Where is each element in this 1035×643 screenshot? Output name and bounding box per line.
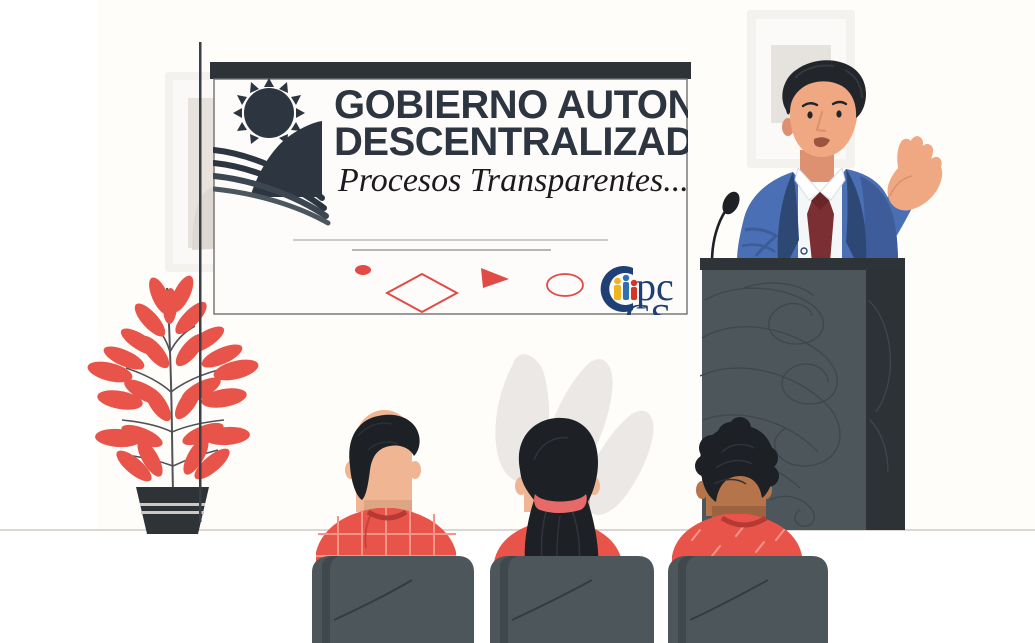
- screen-rod: [199, 42, 202, 522]
- small-dot-shape: [355, 265, 371, 275]
- podium-top: [700, 258, 905, 270]
- slide-title-line-2: DESCENTRALIZADO: [334, 120, 724, 164]
- right-chair: [668, 556, 828, 643]
- plant-pot: [136, 487, 209, 534]
- center-chair: [490, 556, 654, 643]
- illustration-canvas: GOBIERNO AUTONOMO DESCENTRALIZADO Proces…: [0, 0, 1035, 643]
- slide-tagline: Procesos Transparentes...: [337, 162, 689, 199]
- screen-top-bar: [210, 62, 691, 79]
- left-chair: [312, 556, 474, 643]
- podium-side: [866, 270, 905, 530]
